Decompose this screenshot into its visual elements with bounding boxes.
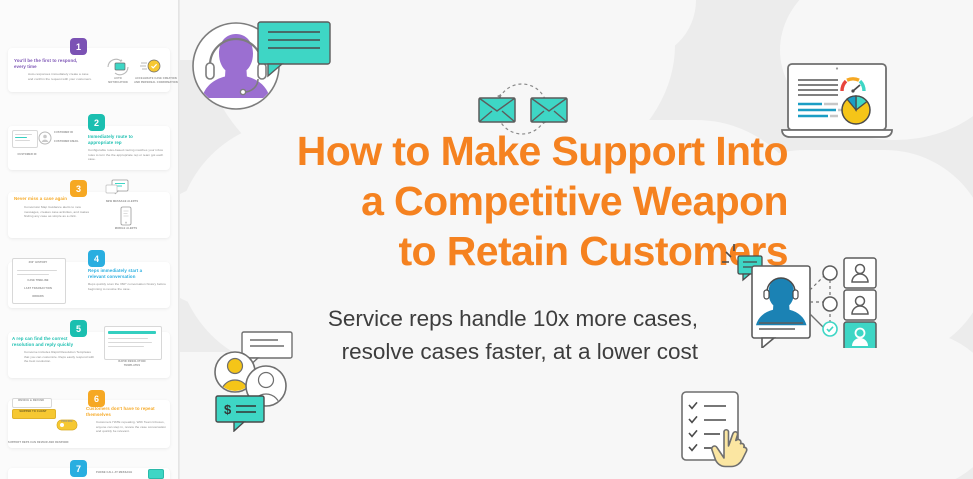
svg-text:$: $	[224, 402, 232, 417]
step-title-1: You'll be the first to respond, every ti…	[14, 58, 94, 71]
step-body-6: Customers HATE repeating. With Team Inbo…	[96, 420, 170, 434]
step-body-2: Configurable rules-based routing matches…	[88, 148, 166, 162]
step2-inbox-chip	[12, 130, 38, 148]
step2-caption-2: CUSTOMER EMAIL	[54, 140, 86, 144]
step4-caption-3: LAST TRANSACTION	[12, 287, 64, 291]
step-body-5: Converse includes Rapid Resolution Templ…	[24, 350, 96, 364]
rail-divider	[178, 0, 180, 479]
step-title-2: Immediately route to appropriate rep	[88, 134, 166, 147]
step-badge-1: 1	[70, 38, 87, 55]
routing-rep-card-1	[844, 258, 876, 288]
step3-caption-1: NEW MESSAGE ALERTS	[100, 200, 144, 204]
routing-spark-icon	[722, 244, 734, 262]
routing-node-2	[823, 297, 837, 311]
step2-caption-3: CUSTOMER ID	[10, 153, 44, 157]
step6-caption-2: SHIPPED TO CLIENT	[12, 410, 54, 414]
step-badge-3: 3	[70, 180, 87, 197]
step4-chipline-2	[17, 274, 49, 275]
step5-chipline-3	[108, 342, 152, 343]
agent-avatar-illustration	[188, 8, 338, 120]
envelope-routing-illustration	[465, 78, 580, 140]
routing-agent-card	[752, 266, 810, 348]
conversation-illustration: $	[208, 322, 318, 432]
step4-caption-1: 360° HISTORY	[12, 261, 64, 265]
step4-caption-2: CASE TIMELINE	[12, 279, 64, 283]
step-badge-4: 4	[88, 250, 105, 267]
step3-caption-2: MOBILE ALERTS	[108, 227, 144, 231]
step-badge-7: 7	[70, 460, 87, 477]
step-body-4: Reps quickly scan the 360° conversation …	[88, 282, 168, 291]
routing-node-3-selected	[823, 322, 837, 336]
step3-message-alert-icon	[104, 178, 138, 200]
step-title-6: Customers don't have to repeat themselve…	[86, 406, 170, 419]
step3-mobile-alert-icon	[118, 206, 134, 228]
routing-rep-card-3-highlighted	[844, 322, 876, 348]
step2-caption-1: CUSTOMER ID	[54, 131, 84, 135]
dashboard-pie-chart	[842, 96, 870, 124]
step4-caption-4: ORDERS	[12, 295, 64, 299]
checklist-illustration	[668, 388, 778, 479]
step6-caption-4: SUPPORT REPS CAN REVIEW AND RESPOND	[8, 441, 90, 445]
step-body-1: Auto-responses immediately create a case…	[28, 72, 94, 81]
step-title-5: A rep can find the correct resolution an…	[12, 336, 96, 349]
step-card-7	[8, 468, 170, 479]
routing-node-1	[823, 266, 837, 280]
step-badge-2: 2	[88, 114, 105, 131]
case-routing-illustration	[718, 228, 878, 348]
step6-caption-1: INVOICE & REFUND	[12, 399, 50, 403]
step2-chipline-1	[15, 134, 32, 135]
step7-chip	[148, 469, 164, 479]
laptop-dashboard-illustration	[780, 62, 900, 147]
agent-chat-bubble	[258, 22, 330, 76]
infographic-canvas: 1 You'll be the first to respond, every …	[0, 0, 973, 479]
step-badge-5: 5	[70, 320, 87, 337]
envelope-right-icon	[531, 98, 567, 122]
step5-chipline-1	[108, 331, 156, 334]
step7-caption-1: PHONE CALL AT MESSAGE	[96, 471, 144, 475]
envelope-left-icon	[479, 98, 515, 122]
page-title: How to Make Support Into a Competitive W…	[188, 126, 788, 276]
step-badge-6: 6	[88, 390, 105, 407]
step5-chipline-2	[108, 338, 148, 339]
step6-caption-3: PRICING	[56, 420, 78, 424]
step5-caption-1: RAPID RESOLUTION TEMPLATES	[104, 360, 160, 368]
step2-chipline-3	[15, 140, 30, 141]
step5-chipline-4	[108, 346, 144, 347]
step1-confirmation-icon	[140, 58, 164, 76]
step1-auto-notification-icon	[104, 58, 132, 76]
step1-caption-1: AUTO NOTIFICATION	[100, 77, 136, 85]
step-title-4: Reps immediately start a relevant conver…	[88, 268, 168, 281]
infographic-rail: 1 You'll be the first to respond, every …	[0, 0, 178, 479]
step2-route-icon	[38, 131, 52, 145]
step1-caption-2: ACCELERATE CASE CREATION AND PERSONAL CO…	[134, 77, 178, 85]
routing-rep-card-2	[844, 290, 876, 320]
step-title-3: Never miss a case again	[14, 196, 96, 202]
step4-chipline-1	[17, 270, 57, 271]
step2-chipline-2	[15, 137, 27, 138]
price-card: $	[216, 396, 264, 431]
step-body-3: Conversion Map Guidance alerts to new me…	[24, 205, 96, 219]
